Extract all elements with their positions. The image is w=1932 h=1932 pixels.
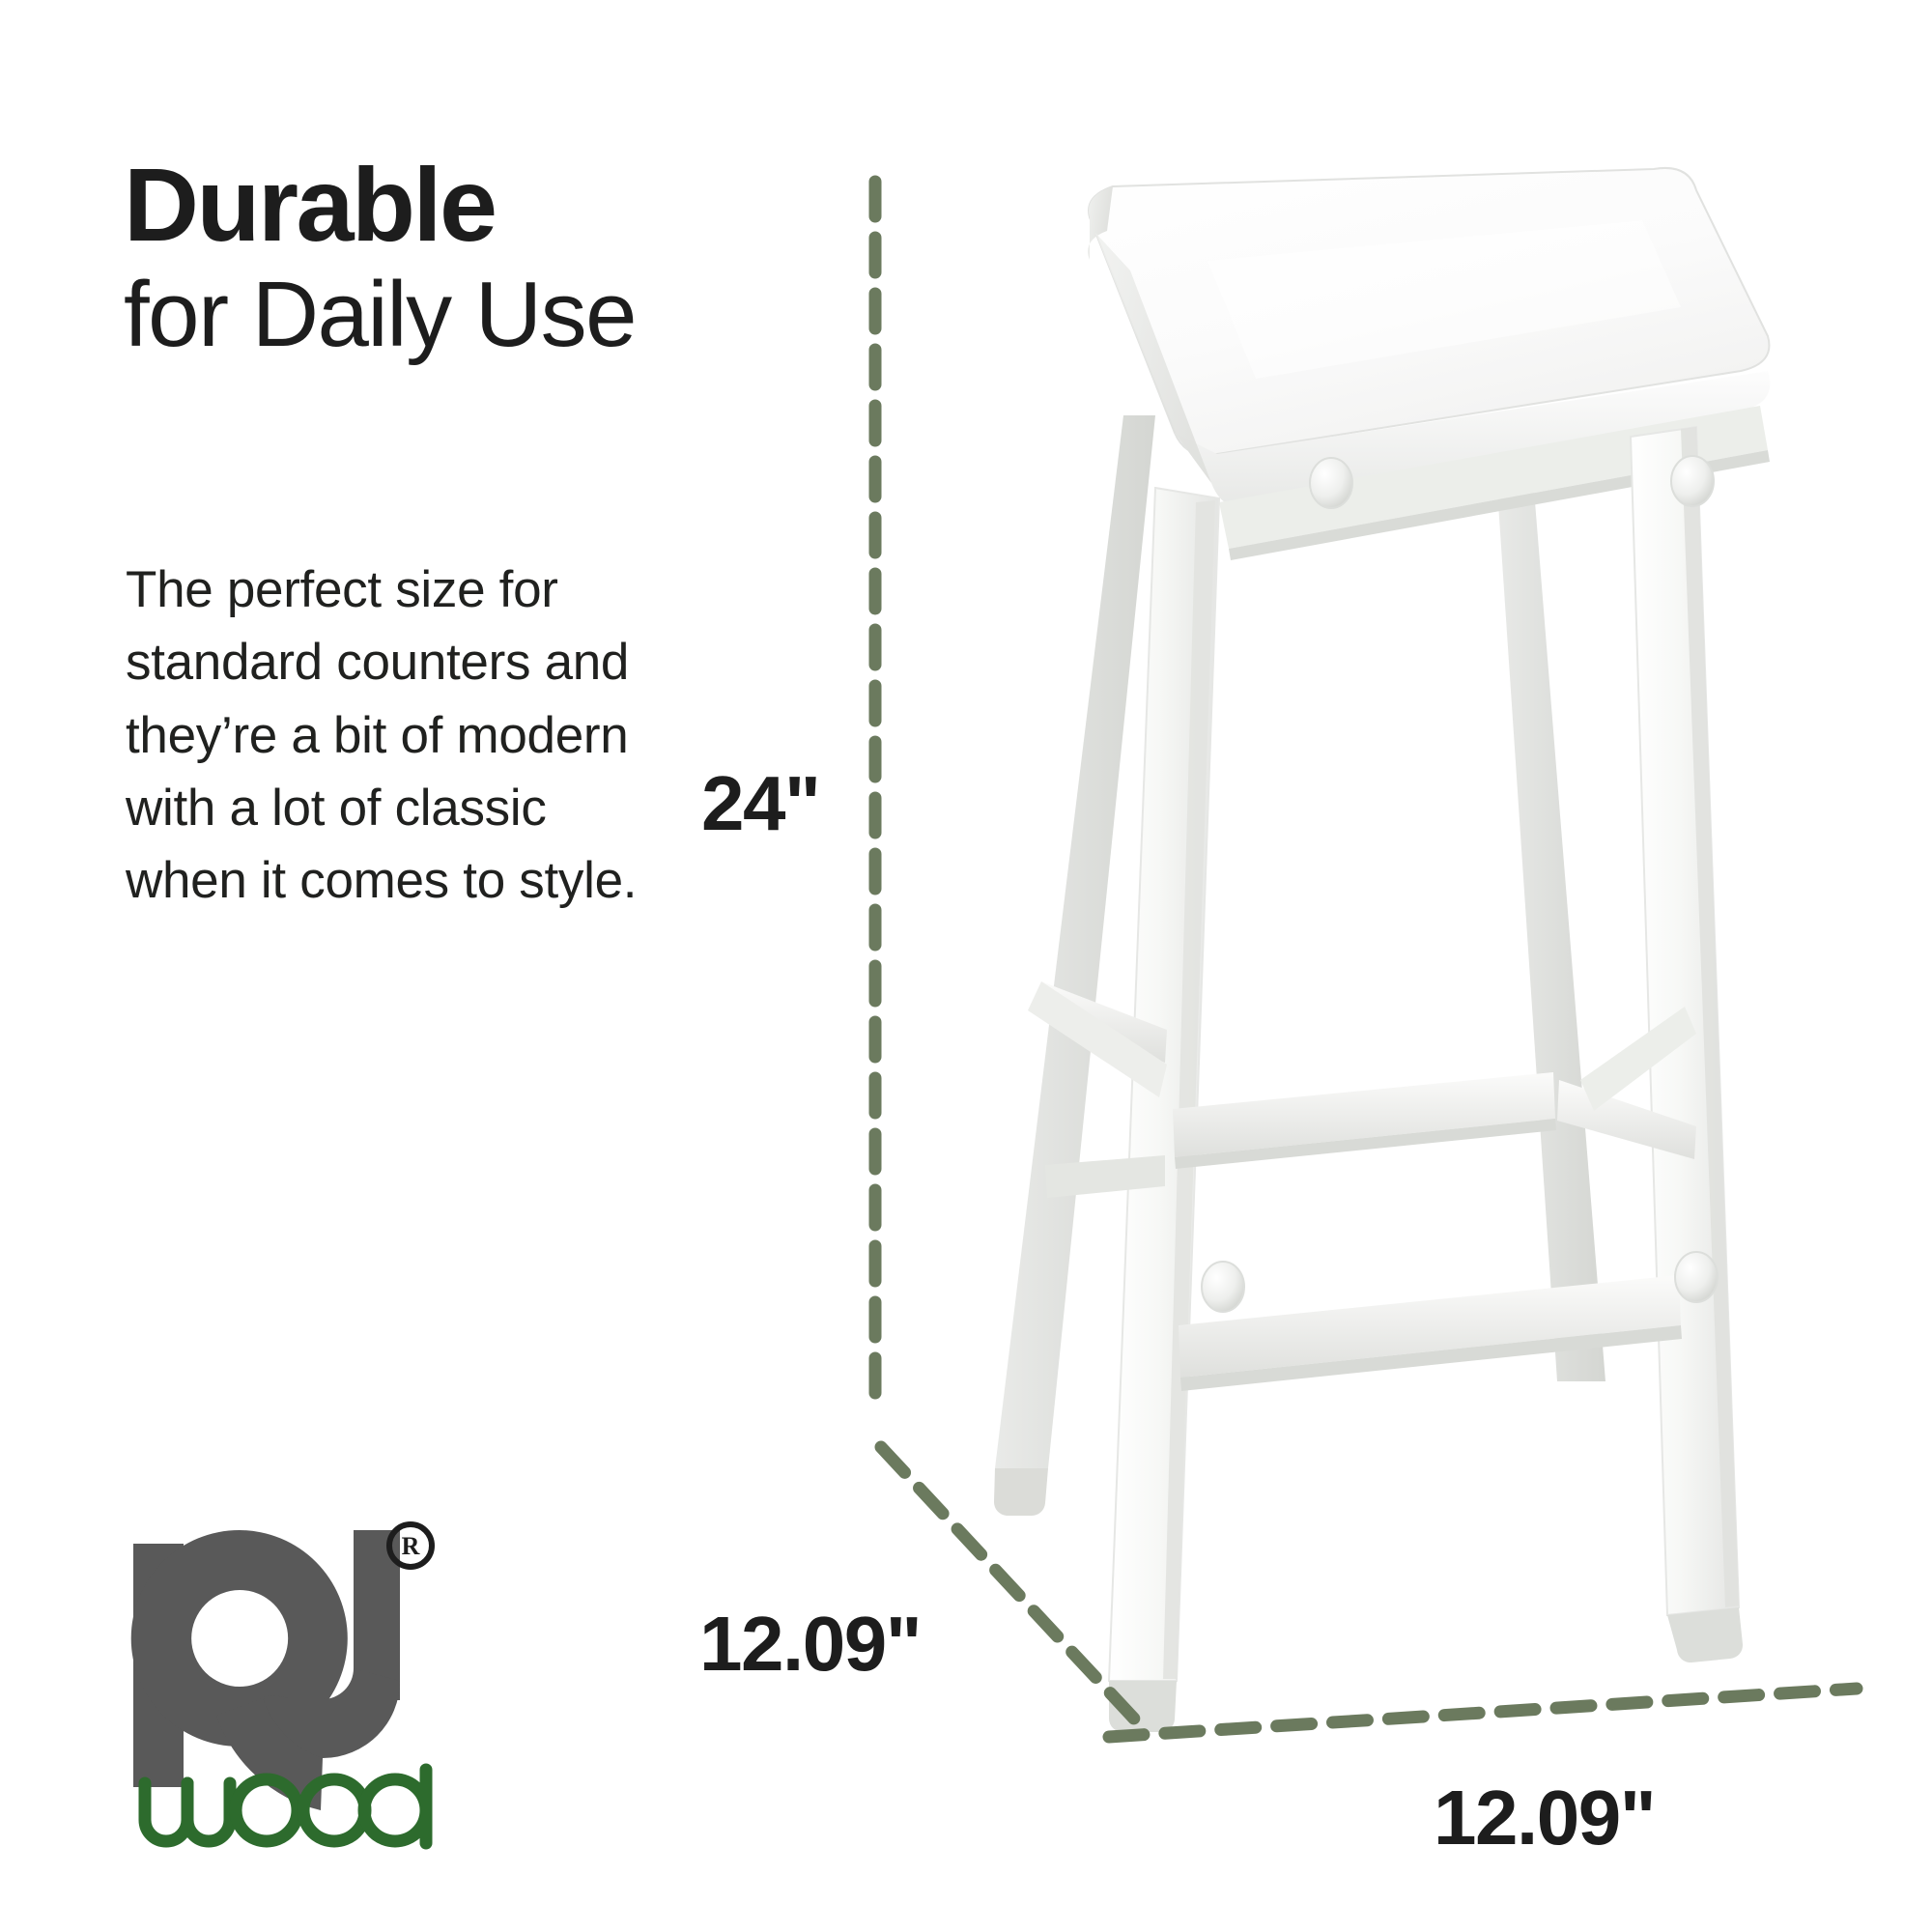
infographic-canvas: Durable for Daily Use The perfect size f…	[0, 0, 1932, 1932]
width-dimension-label: 12.09"	[1434, 1774, 1655, 1862]
stool-legs-front	[1109, 427, 1743, 1732]
screw-cap-icon	[1671, 456, 1714, 506]
screw-cap-icon	[1675, 1252, 1718, 1302]
height-dimension-label: 24"	[701, 759, 819, 848]
depth-dimension-label: 12.09"	[699, 1600, 921, 1689]
screw-cap-icon	[1310, 458, 1352, 508]
screw-cap-icon	[1202, 1262, 1244, 1312]
product-image-bar-stool	[0, 0, 1932, 1932]
